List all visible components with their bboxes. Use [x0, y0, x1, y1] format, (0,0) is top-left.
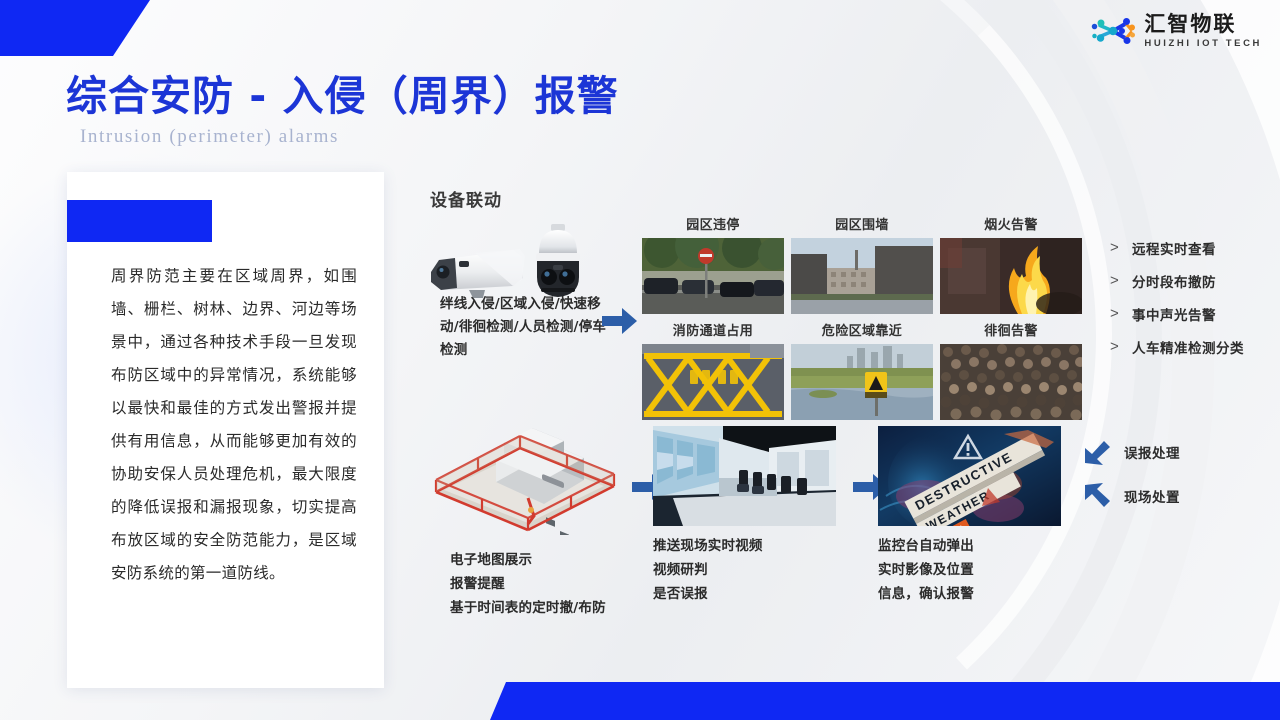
arrow-down-right-icon: [1082, 482, 1112, 510]
scenario-label: 园区围墙: [791, 214, 933, 238]
scenario-label: 消防通道占用: [642, 320, 784, 344]
card-paragraph: 周界防范主要在区域周界，如围墙、栅栏、树林、边界、河边等场景中，通过各种技术手段…: [111, 260, 357, 590]
dense-crowd-photo: [940, 344, 1082, 420]
brand-logo-text: 汇智物联 HUIZHI IOT TECH: [1144, 14, 1262, 49]
molecule-network-icon: [1091, 14, 1135, 48]
ptz-dome-camera-icon: [536, 224, 580, 297]
brand-name-cn: 汇智物联: [1144, 14, 1262, 35]
flow-step-caption: 监控台自动弹出 实时影像及位置 信息，确认报警: [878, 534, 1068, 606]
response-flow: 电子地图展示 报警提醒 基于时间表的定时撤/布防: [410, 420, 1280, 630]
scenario-cell: 烟火告警: [940, 214, 1082, 314]
brand-name-en: HUIZHI IOT TECH: [1144, 39, 1262, 49]
flow-step-caption: 电子地图展示 报警提醒 基于时间表的定时撤/布防: [450, 548, 629, 620]
flow-step: 推送现场实时视频 视频研判 是否误报: [653, 426, 843, 606]
capability-label: 事中声光告警: [1132, 304, 1216, 324]
flow-step: 电子地图展示 报警提醒 基于时间表的定时撤/布防: [424, 420, 629, 620]
flow-caption-line: 实时影像及位置: [878, 558, 1068, 582]
corner-accent-bottom-right: [490, 682, 1280, 720]
flow-caption-line: 电子地图展示: [450, 548, 629, 572]
page-title: 综合安防 - 入侵（周界）报警: [66, 62, 619, 122]
control-room-video-wall-photo: [653, 426, 836, 526]
yellow-fire-lane-marking-photo: [642, 344, 784, 420]
scenario-label: 园区违停: [642, 214, 784, 238]
device-caption: 绊线入侵/区域入侵/快速移动/徘徊检测/人员检测/停车检测: [440, 293, 610, 362]
list-item: > 远程实时查看: [1110, 231, 1244, 264]
list-item: > 人车精准检测分类: [1110, 330, 1244, 363]
fire-flames-photo: [940, 238, 1082, 314]
destructive-weather-alert-screen: DESTRUCTIVE WEATHER CAUTION: [878, 426, 1061, 526]
scenario-grid-row-1: 园区违停: [642, 214, 1082, 314]
capability-bullet-list: > 远程实时查看 > 分时段布撤防 > 事中声光告警 > 人车精准检测分类: [1110, 231, 1244, 363]
capability-label: 远程实时查看: [1132, 238, 1216, 258]
page-subtitle: Intrusion (perimeter) alarms: [80, 126, 339, 148]
3d-site-map-building-fence-render: [424, 420, 629, 540]
riverside-hazard-sign-photo: [791, 344, 933, 420]
list-item: > 分时段布撤防: [1110, 264, 1244, 297]
scenario-cell: 园区围墙: [791, 214, 933, 314]
flow-caption-line: 报警提醒: [450, 572, 629, 596]
outcome-label: 误报处理: [1124, 442, 1180, 462]
scenario-label: 徘徊告警: [940, 320, 1082, 344]
flow-caption-line: 信息，确认报警: [878, 582, 1068, 606]
chevron-right-icon: >: [1110, 239, 1121, 256]
scenario-label: 烟火告警: [940, 214, 1082, 238]
scenario-cell: 园区违停: [642, 214, 784, 314]
description-card: 周界防范主要在区域周界，如围墙、栅栏、树林、边界、河边等场景中，通过各种技术手段…: [67, 172, 384, 688]
scenario-grid-row-2: 消防通道占用: [642, 320, 1082, 420]
chevron-right-icon: >: [1110, 272, 1121, 289]
flow-step: DESTRUCTIVE WEATHER CAUTION: [878, 426, 1068, 606]
street-parked-cars-photo: [642, 238, 784, 314]
chevron-right-icon: >: [1110, 305, 1121, 322]
bullet-camera-icon: [431, 249, 525, 298]
capability-label: 人车精准检测分类: [1132, 337, 1244, 357]
arrow-up-right-icon: [1082, 438, 1112, 466]
scenario-cell: 消防通道占用: [642, 320, 784, 420]
outcome-item: 误报处理: [1082, 438, 1180, 466]
flow-caption-line: 是否误报: [653, 582, 843, 606]
scenario-label: 危险区域靠近: [791, 320, 933, 344]
capability-label: 分时段布撤防: [1132, 271, 1216, 291]
diagram-region: 设备联动: [410, 178, 1280, 638]
brand-logo: 汇智物联 HUIZHI IOT TECH: [1091, 14, 1262, 49]
device-section-heading: 设备联动: [430, 186, 502, 211]
flow-caption-line: 视频研判: [653, 558, 843, 582]
outcome-label: 现场处置: [1124, 486, 1180, 506]
chevron-right-icon: >: [1110, 338, 1121, 355]
flow-caption-line: 监控台自动弹出: [878, 534, 1068, 558]
scenario-grid: 园区违停: [642, 214, 1082, 420]
factory-perimeter-wall-photo: [791, 238, 933, 314]
list-item: > 事中声光告警: [1110, 297, 1244, 330]
flow-step-caption: 推送现场实时视频 视频研判 是否误报: [653, 534, 843, 606]
card-tag-banner: [67, 200, 212, 242]
scenario-cell: 徘徊告警: [940, 320, 1082, 420]
outcome-item: 现场处置: [1082, 482, 1180, 510]
scenario-cell: 危险区域靠近: [791, 320, 933, 420]
flow-caption-line: 推送现场实时视频: [653, 534, 843, 558]
corner-accent-top-left: [0, 0, 150, 56]
flow-caption-line: 基于时间表的定时撤/布防: [450, 596, 629, 620]
flow-arrow-right-icon: [602, 306, 638, 336]
slide-canvas: 汇智物联 HUIZHI IOT TECH 综合安防 - 入侵（周界）报警 Int…: [0, 0, 1280, 720]
